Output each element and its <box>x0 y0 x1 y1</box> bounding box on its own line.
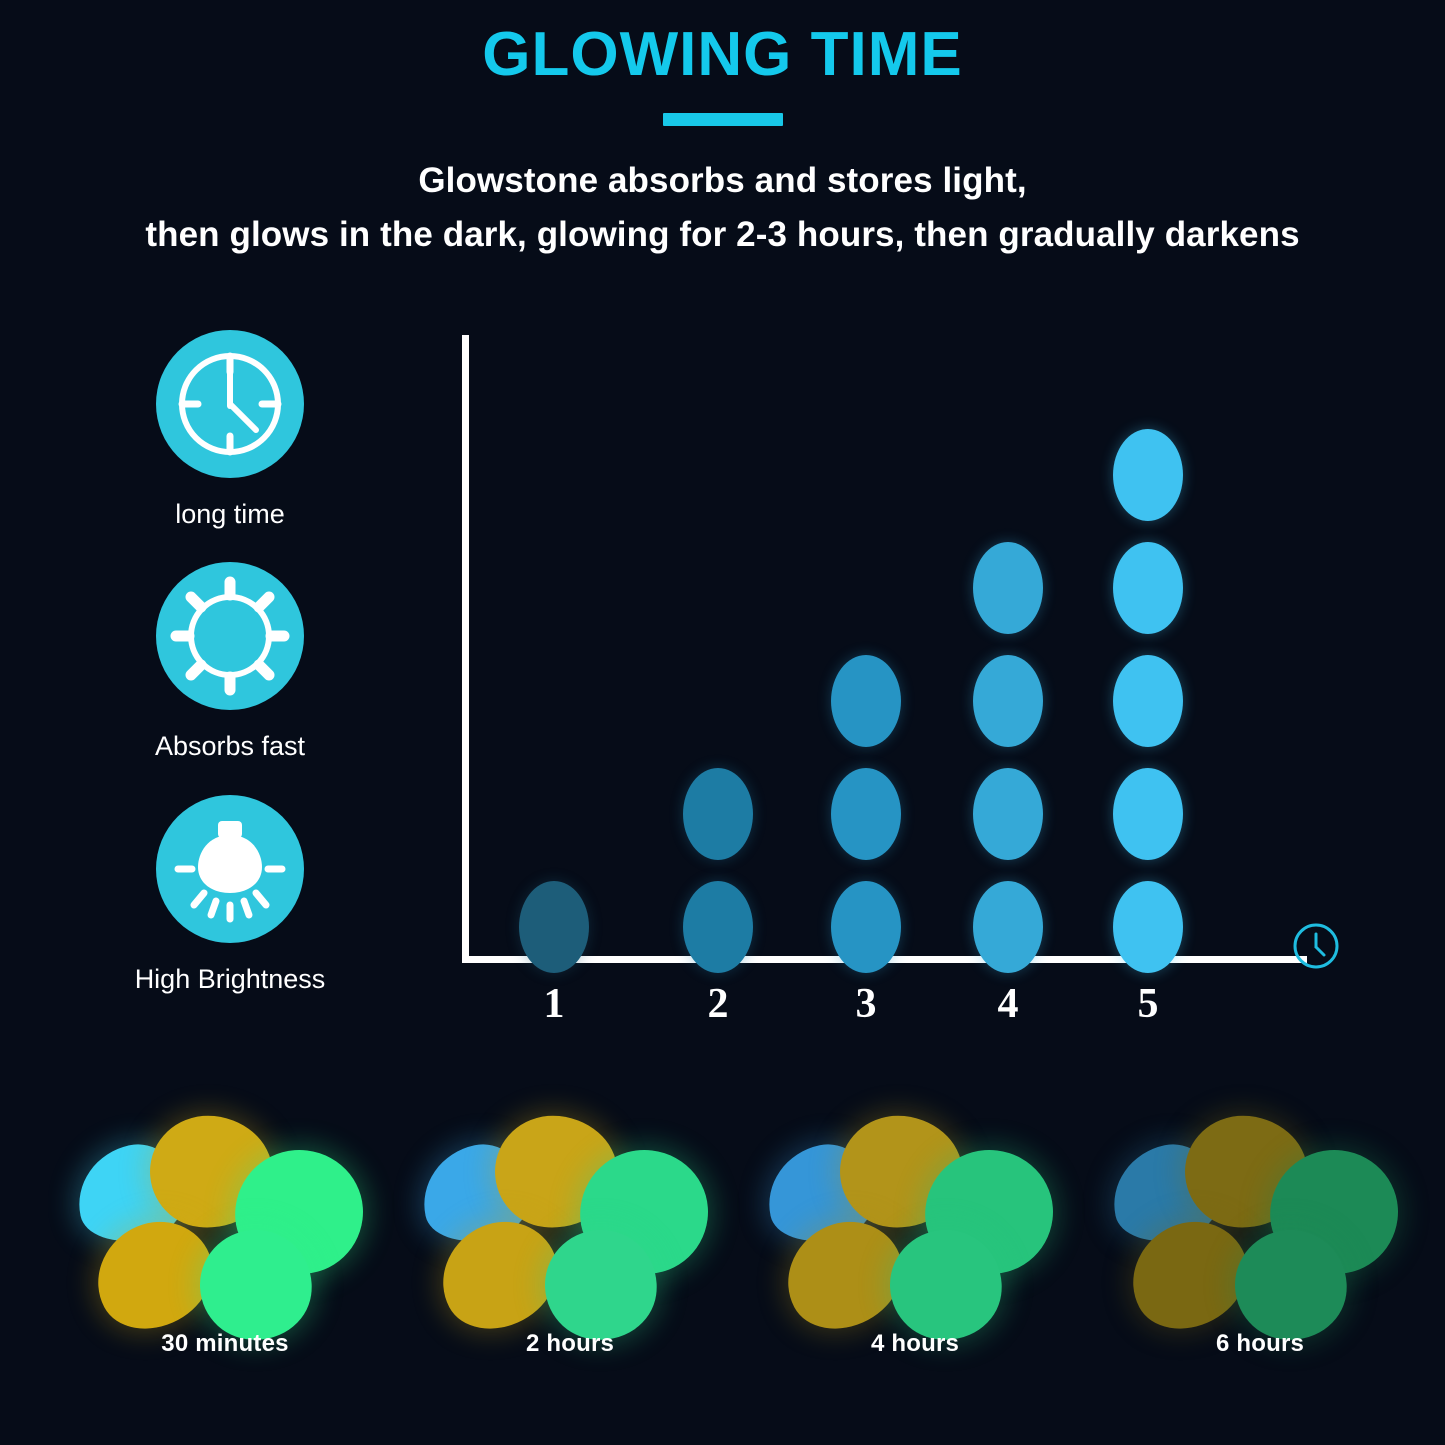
chart-stone-marker <box>973 768 1043 860</box>
photo-caption: 4 hours <box>745 1330 1085 1358</box>
subtitle: Glowstone absorbs and stores light, then… <box>0 154 1445 263</box>
clock-icon <box>156 330 304 478</box>
pebble-cluster <box>400 1108 740 1338</box>
chart-x-tick: 5 <box>1113 980 1183 1028</box>
header: GLOWING TIME Glowstone absorbs and store… <box>0 0 1445 263</box>
chart-stone-marker <box>831 881 901 973</box>
chart-stone-marker <box>831 768 901 860</box>
subtitle-line-2: then glows in the dark, glowing for 2-3 … <box>0 208 1445 262</box>
chart-stone-marker <box>1113 881 1183 973</box>
feature-list: long time Absorbs fast <box>105 330 355 1027</box>
feature-label: long time <box>105 498 355 530</box>
chart-stone-marker <box>1113 542 1183 634</box>
title-divider <box>663 113 783 126</box>
pebble-cluster <box>1090 1108 1430 1338</box>
chart-y-axis <box>462 335 469 963</box>
pebble-cluster <box>55 1108 395 1338</box>
glow-fade-photo-row: 30 minutes2 hours4 hours6 hours <box>0 1108 1445 1408</box>
chart-x-tick: 4 <box>973 980 1043 1028</box>
chart-stone-marker <box>973 655 1043 747</box>
subtitle-line-1: Glowstone absorbs and stores light, <box>0 154 1445 208</box>
pebble-cluster <box>745 1108 1085 1338</box>
feature-high-brightness: High Brightness <box>105 795 355 995</box>
chart-x-tick: 3 <box>831 980 901 1028</box>
chart-x-tick: 2 <box>683 980 753 1028</box>
feature-absorbs-fast: Absorbs fast <box>105 562 355 762</box>
photo-group: 30 minutes <box>55 1108 395 1408</box>
chart-stone-marker <box>831 655 901 747</box>
chart-stone-marker <box>1113 768 1183 860</box>
photo-caption: 6 hours <box>1090 1330 1430 1358</box>
photo-group: 2 hours <box>400 1108 740 1408</box>
lightbulb-icon <box>156 795 304 943</box>
chart-stone-marker <box>973 542 1043 634</box>
page-title: GLOWING TIME <box>0 22 1445 87</box>
chart-stone-marker <box>519 881 589 973</box>
photo-group: 4 hours <box>745 1108 1085 1408</box>
photo-caption: 30 minutes <box>55 1330 395 1358</box>
chart-stone-marker <box>1113 655 1183 747</box>
chart-stone-marker <box>1113 429 1183 521</box>
sun-rays-icon <box>156 562 304 710</box>
chart-stone-marker <box>973 881 1043 973</box>
feature-long-time: long time <box>105 330 355 530</box>
chart-x-tick: 1 <box>519 980 589 1028</box>
photo-caption: 2 hours <box>400 1330 740 1358</box>
feature-label: High Brightness <box>105 963 355 995</box>
feature-label: Absorbs fast <box>105 730 355 762</box>
clock-icon <box>1290 920 1342 972</box>
glow-intensity-chart: 12345 <box>462 335 1362 1045</box>
chart-stone-marker <box>683 881 753 973</box>
chart-stone-marker <box>683 768 753 860</box>
photo-group: 6 hours <box>1090 1108 1430 1408</box>
